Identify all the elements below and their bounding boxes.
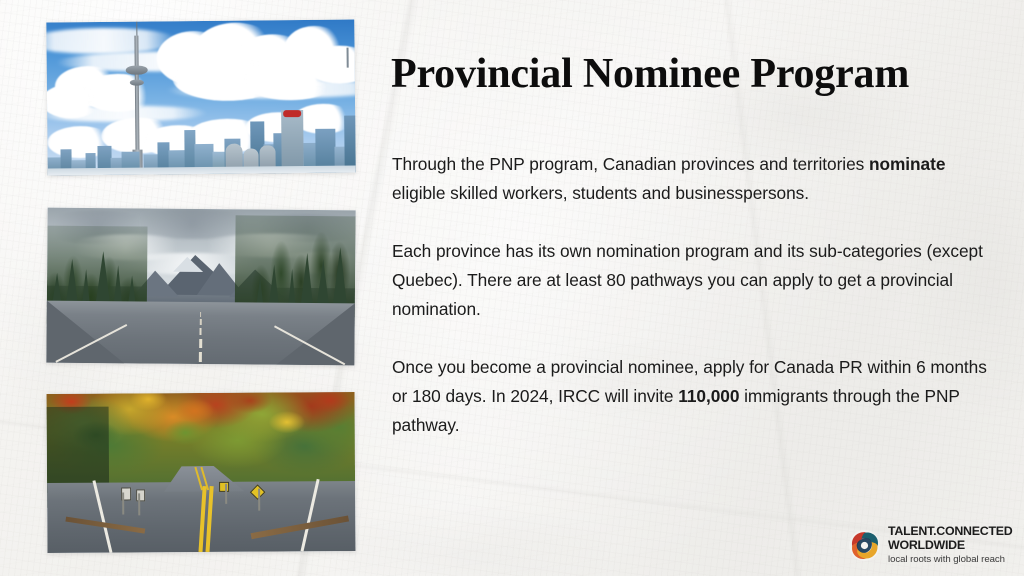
- photo-column: [0, 0, 380, 576]
- paragraph-provinces: Each province has its own nomination pro…: [392, 237, 990, 324]
- emphasis-text: nominate: [869, 154, 945, 174]
- paragraph-intro: Through the PNP program, Canadian provin…: [392, 150, 990, 208]
- logo-mark-icon: [848, 529, 881, 562]
- logo-line-2: WORLDWIDE: [888, 539, 1013, 552]
- photo-mountain-highway: [46, 208, 355, 366]
- slide-canvas: Provincial Nominee Program Through the P…: [0, 0, 1024, 576]
- logo-line-1: TALENT.CONNECTED: [888, 525, 1013, 538]
- emphasis-text: 110,000: [678, 386, 739, 406]
- rogers-centre-red-band: [283, 110, 301, 117]
- paragraph-nominee-timeline: Once you become a provincial nominee, ap…: [392, 353, 990, 440]
- photo-toronto-skyline: [46, 20, 355, 176]
- photo-autumn-road: [47, 392, 356, 553]
- logo-text-block: TALENT.CONNECTED WORLDWIDE local roots w…: [888, 525, 1013, 564]
- content-column: Provincial Nominee Program Through the P…: [391, 0, 991, 576]
- brand-logo: TALENT.CONNECTED WORLDWIDE local roots w…: [848, 524, 1016, 566]
- logo-tagline: local roots with global reach: [888, 554, 1013, 565]
- page-title: Provincial Nominee Program: [391, 52, 991, 97]
- cn-tower-lower-pod: [130, 80, 144, 86]
- cn-tower-pod: [126, 66, 148, 75]
- body-copy: Through the PNP program, Canadian provin…: [392, 150, 990, 440]
- road-sign-yellow-square: [219, 481, 229, 491]
